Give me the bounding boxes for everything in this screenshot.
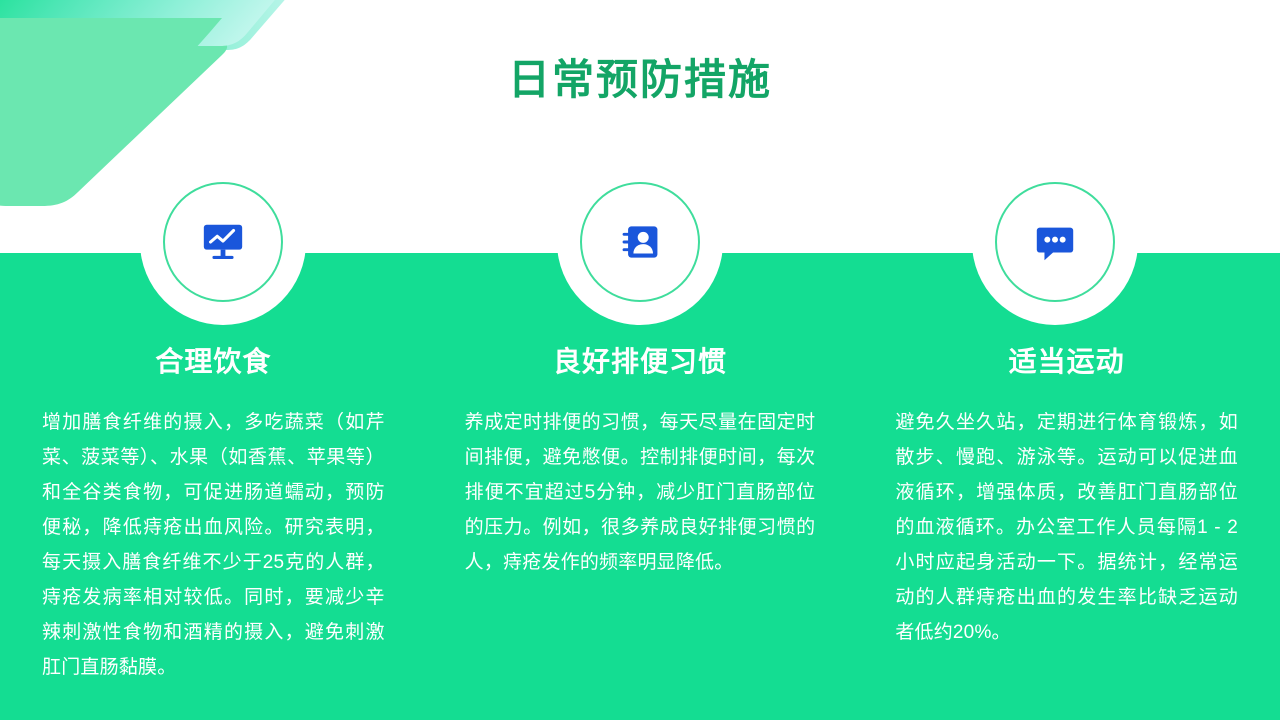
column-body: 养成定时排便的习惯，每天尽量在固定时间排便，避免憋便。控制排便时间，每次排便不宜…: [465, 405, 816, 580]
icon-circle-2[interactable]: [557, 159, 723, 325]
columns-container: 合理饮食 增加膳食纤维的摄入，多吃蔬菜（如芹菜、菠菜等）、水果（如香蕉、苹果等）…: [0, 345, 1280, 720]
icon-circle-1[interactable]: [140, 159, 306, 325]
column-title: 适当运动: [895, 345, 1238, 379]
column-title: 良好排便习惯: [465, 345, 816, 379]
column-title: 合理饮食: [42, 345, 385, 379]
icon-circle-3[interactable]: [972, 159, 1138, 325]
column-1: 合理饮食 增加膳食纤维的摄入，多吃蔬菜（如芹菜、菠菜等）、水果（如香蕉、苹果等）…: [0, 345, 427, 720]
column-body: 增加膳食纤维的摄入，多吃蔬菜（如芹菜、菠菜等）、水果（如香蕉、苹果等）和全谷类食…: [42, 405, 385, 685]
column-2: 良好排便习惯 养成定时排便的习惯，每天尽量在固定时间排便，避免憋便。控制排便时间…: [427, 345, 854, 720]
column-3: 适当运动 避免久坐久站，定期进行体育锻炼，如散步、慢跑、游泳等。运动可以促进血液…: [853, 345, 1280, 720]
slide-root: 日常预防措施: [0, 0, 1280, 720]
monitor-chart-icon: [163, 182, 283, 302]
chat-bubble-dots-icon: [995, 182, 1115, 302]
contact-book-icon: [580, 182, 700, 302]
column-body: 避免久坐久站，定期进行体育锻炼，如散步、慢跑、游泳等。运动可以促进血液循环，增强…: [895, 405, 1238, 650]
